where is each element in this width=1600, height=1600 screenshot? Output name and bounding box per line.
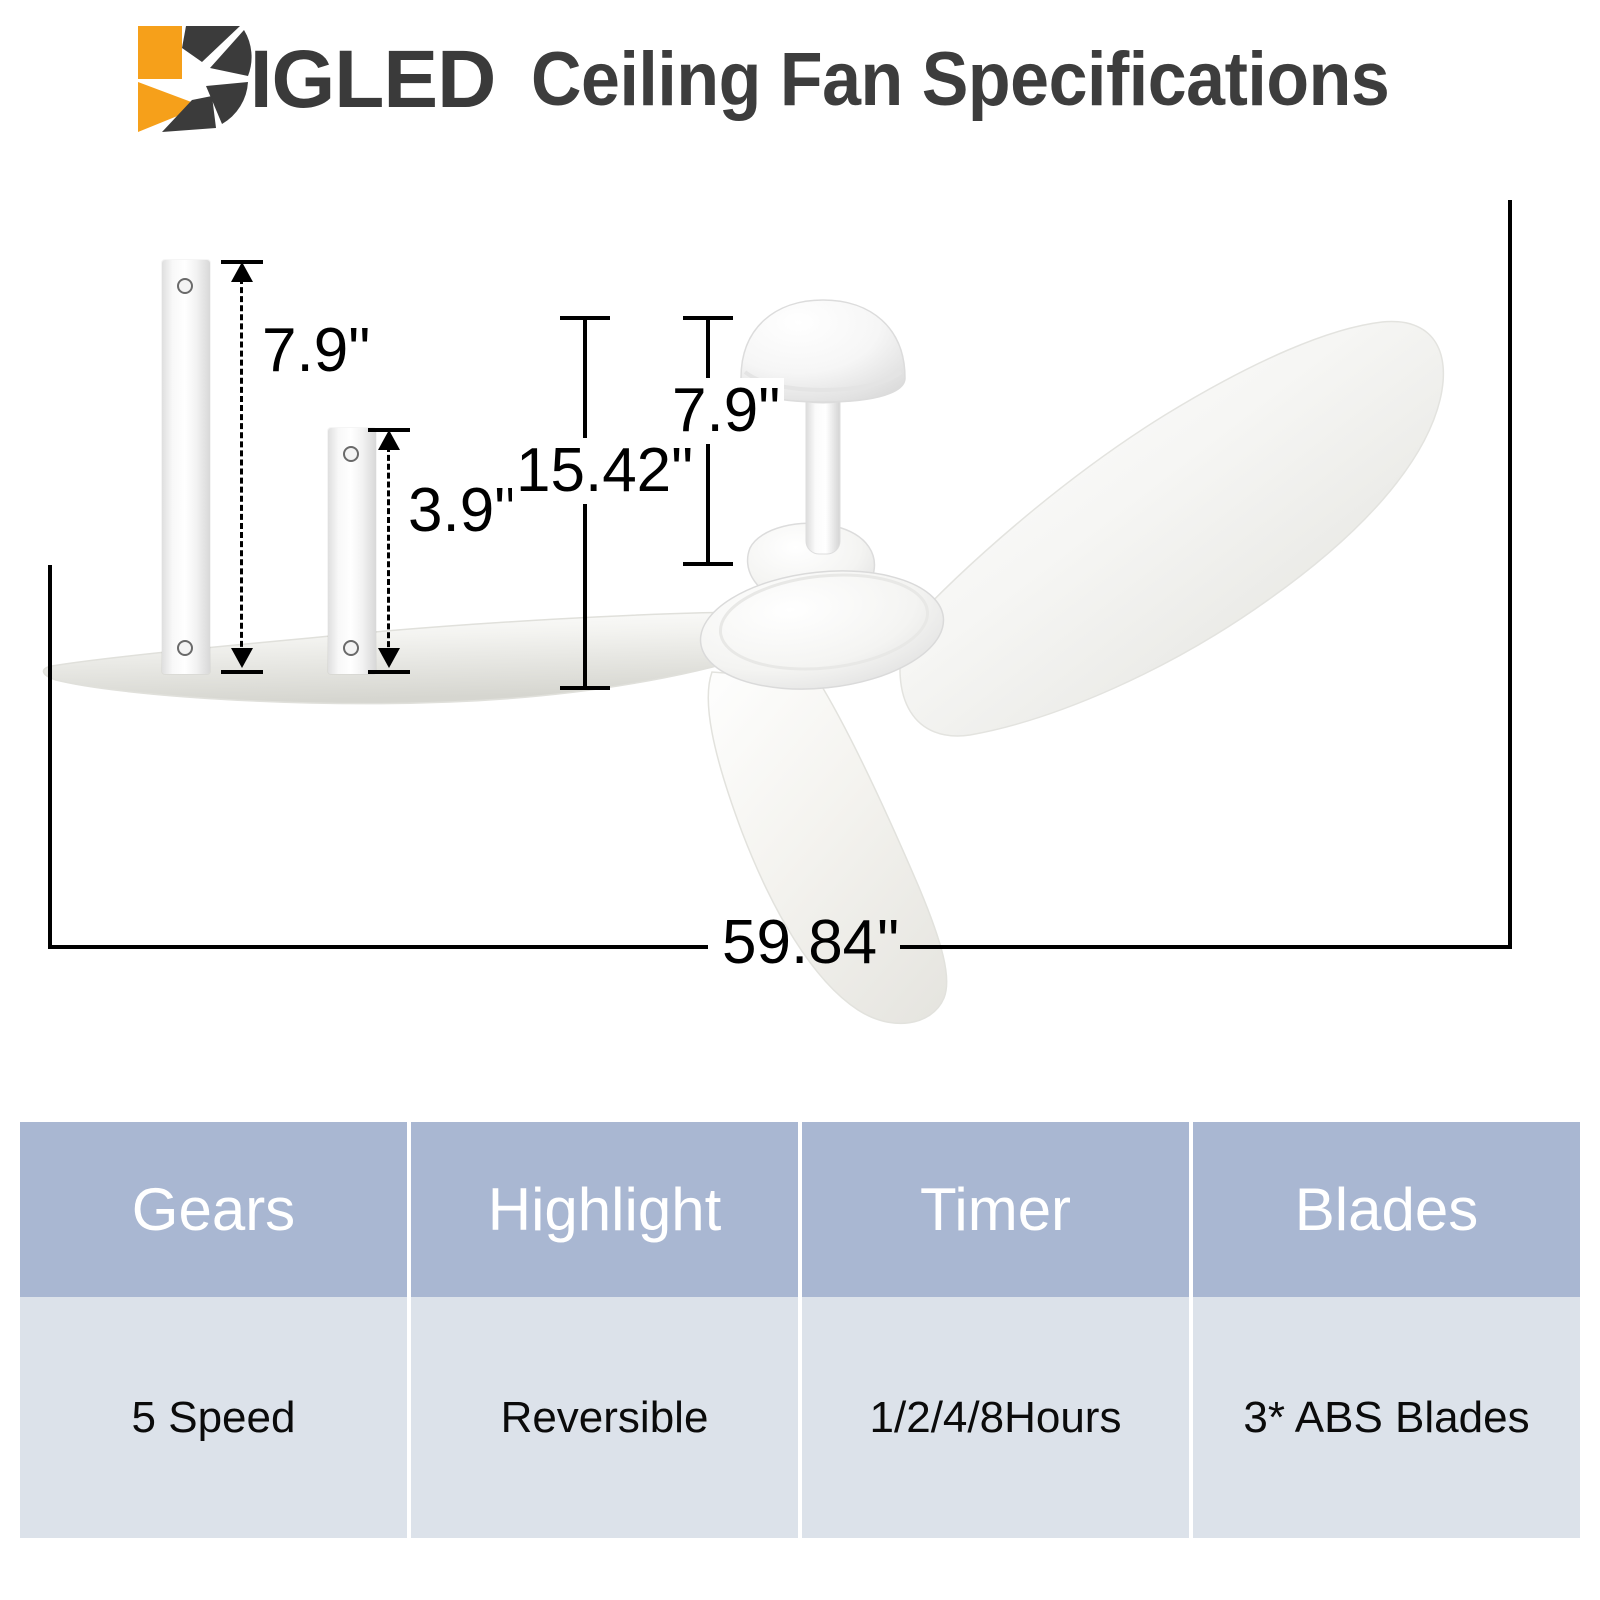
dim-15-42-cap-bottom — [560, 686, 610, 690]
downrod-short-part — [328, 428, 376, 674]
dim-label-7-9-long: 7.9" — [262, 320, 370, 382]
dim-3-9-dashline — [387, 446, 390, 656]
brand-lockup: IGLED Ceiling Fan Specifications — [136, 25, 1465, 135]
downrod — [806, 386, 840, 554]
span-extension-left — [48, 565, 52, 947]
dim-3-9-cap-bottom — [368, 670, 410, 674]
downrod-long-screwhole-top — [177, 278, 193, 294]
spec-header-timer: Timer — [802, 1122, 1193, 1297]
fan-blade-upper-right — [900, 322, 1443, 736]
downrod-long-screwhole-bottom — [177, 640, 193, 656]
spec-sheet-page: IGLED Ceiling Fan Specifications — [0, 0, 1600, 1600]
dim-7-9-long-cap-bottom — [221, 670, 263, 674]
downrod-short-screwhole-top — [343, 446, 359, 462]
spec-header-highlight: Highlight — [411, 1122, 802, 1297]
downrod-short-screwhole-bottom — [343, 640, 359, 656]
dim-7-9-long-arrow-bottom — [231, 648, 253, 668]
fan-blade-left — [43, 612, 778, 704]
span-extension-right — [1508, 200, 1512, 947]
spec-value-gears: 5 Speed — [20, 1297, 411, 1538]
dim-label-15-42: 15.42" — [512, 438, 697, 504]
span-line-right — [900, 945, 1512, 949]
spec-header-blades: Blades — [1193, 1122, 1580, 1297]
page-title: Ceiling Fan Specifications — [531, 42, 1389, 118]
digled-logo-icon — [136, 24, 254, 136]
dim-label-7-9-drop: 7.9" — [668, 378, 784, 444]
spec-table-row: 5 Speed Reversible 1/2/4/8Hours 3* ABS B… — [20, 1297, 1580, 1538]
spec-header-gears: Gears — [20, 1122, 411, 1297]
dim-3-9-arrow-bottom — [378, 648, 400, 668]
dim-7-9-long-dashline — [240, 278, 243, 656]
dim-label-59-84: 59.84" — [722, 912, 899, 974]
spec-value-highlight: Reversible — [411, 1297, 802, 1538]
spec-value-blades: 3* ABS Blades — [1193, 1297, 1580, 1538]
spec-table: Gears Highlight Timer Blades 5 Speed Rev… — [20, 1122, 1580, 1538]
brand-wordmark: IGLED — [250, 39, 496, 121]
product-dimension-diagram: 7.9" 3.9" 15.42" 7.9" 59.84" — [0, 160, 1600, 1060]
spec-table-header-row: Gears Highlight Timer Blades — [20, 1122, 1580, 1297]
span-line-left — [48, 945, 708, 949]
dim-7-9-drop-cap-bottom — [683, 562, 733, 566]
dim-7-9-long-arrow-top — [231, 262, 253, 282]
spec-value-timer: 1/2/4/8Hours — [802, 1297, 1193, 1538]
page-header: IGLED Ceiling Fan Specifications — [0, 0, 1600, 160]
dim-label-3-9: 3.9" — [408, 480, 516, 542]
dim-3-9-arrow-top — [378, 430, 400, 450]
downrod-long-part — [162, 260, 210, 674]
